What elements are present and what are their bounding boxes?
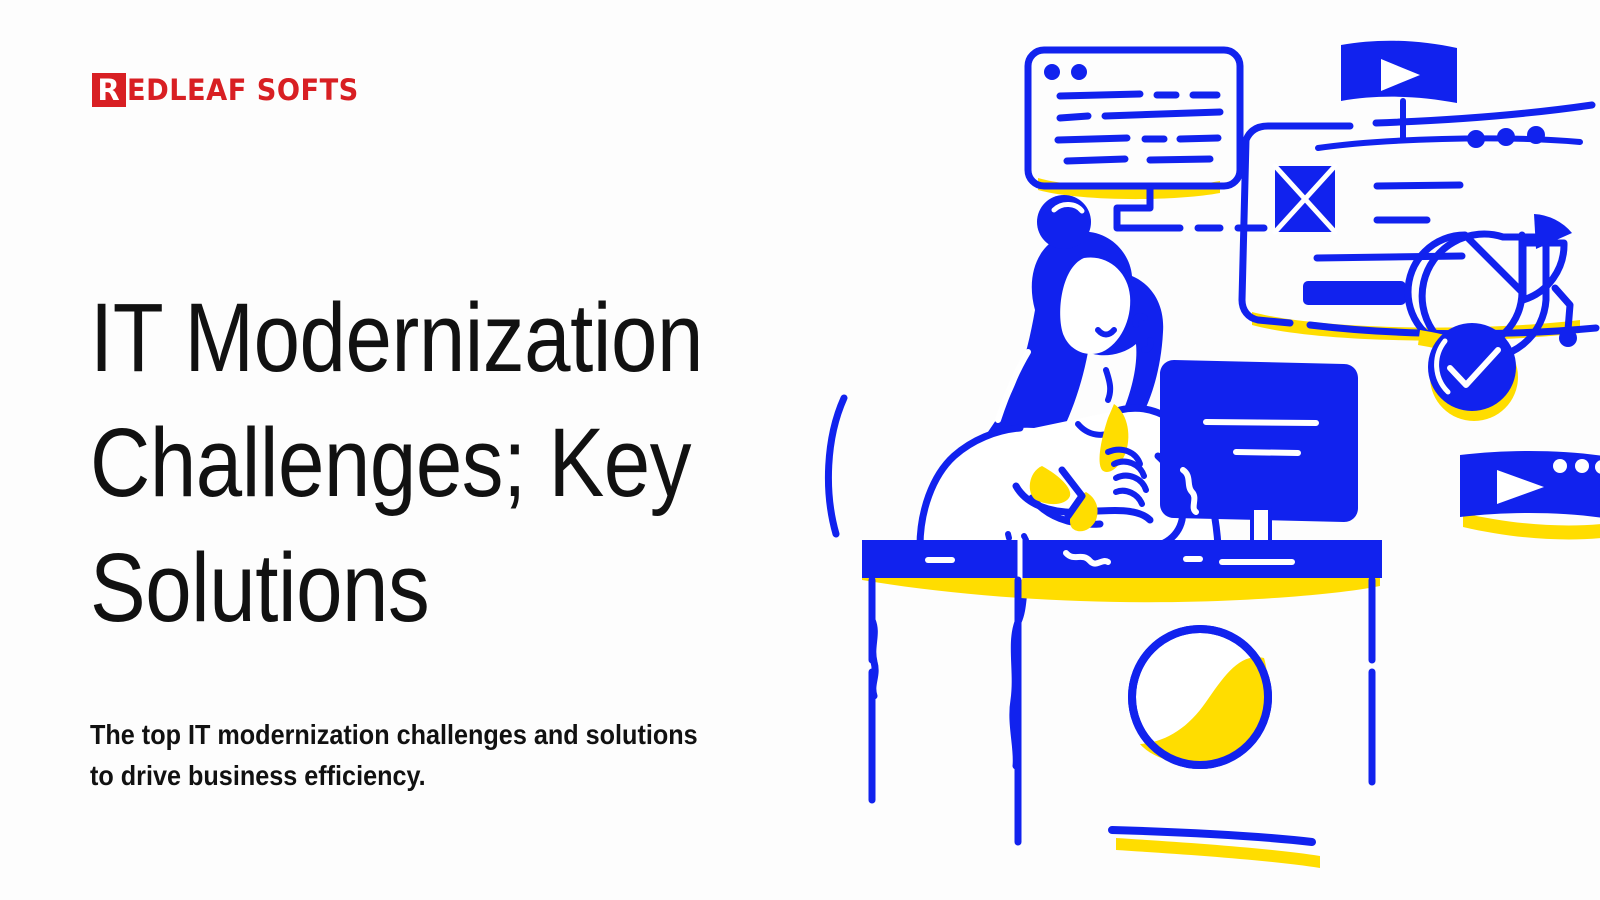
page-title: IT Modernization Challenges; Key Solutio…	[90, 275, 795, 650]
logo-wordmark: EDLEAF SOFTS	[127, 73, 359, 107]
window-dot-1	[1044, 64, 1060, 80]
primary-button	[1303, 281, 1406, 305]
video-player-card	[1460, 451, 1600, 540]
window-dot-2	[1071, 64, 1087, 80]
logo-mark-icon: R	[92, 73, 126, 107]
poster-canvas: R EDLEAF SOFTS IT Modernization Challeng…	[0, 0, 1600, 900]
dashboard-panel-dots	[1467, 126, 1545, 148]
floor-line	[1112, 830, 1320, 868]
hero-illustration	[820, 0, 1600, 900]
illustration-svg	[820, 0, 1600, 900]
dashboard-text-lines	[1317, 185, 1462, 258]
desk-shadow	[862, 578, 1380, 602]
progress-circle	[1132, 629, 1268, 765]
image-placeholder	[1275, 166, 1335, 232]
monitor-line-1	[1206, 422, 1316, 423]
code-window-text-lines	[1058, 94, 1220, 161]
check-badge	[1418, 323, 1518, 421]
pie-connector-dot	[1559, 329, 1577, 347]
brand-logo[interactable]: R EDLEAF SOFTS	[92, 70, 374, 110]
chair-back	[828, 398, 844, 534]
page-subtitle: The top IT modernization challenges and …	[90, 714, 810, 797]
desk	[862, 540, 1382, 842]
monitor-line-2	[1236, 452, 1298, 453]
